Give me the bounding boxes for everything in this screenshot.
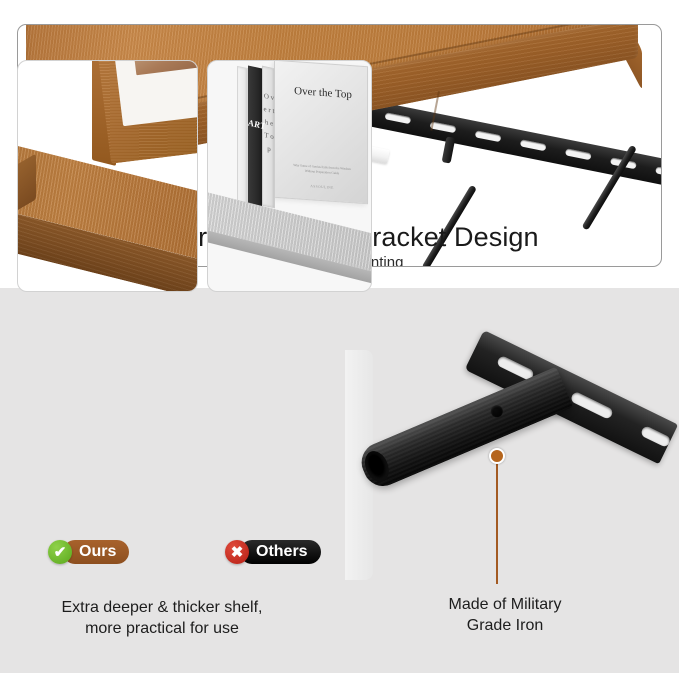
callout-leader-line — [496, 462, 498, 584]
cross-mark-icon: ✖ — [225, 540, 249, 564]
bracket-rod-screw-hole-icon — [489, 403, 505, 419]
book-spine-art — [248, 66, 262, 209]
iron-bracket-illustration — [340, 300, 679, 580]
badge-others: ✖ Others — [225, 540, 321, 564]
ours-illustration — [18, 61, 197, 291]
others-illustration: Over the Top Why Some of Genius Fails fr… — [208, 61, 371, 291]
check-mark-icon: ✔ — [48, 540, 72, 564]
badge-others-label: Others — [240, 540, 321, 564]
badge-ours: ✔ Ours — [48, 540, 129, 564]
callout-dot-icon — [489, 448, 505, 464]
caption-military-grade-iron: Made of Military Grade Iron — [400, 594, 610, 636]
book-cover-over-the-top — [274, 60, 368, 204]
badge-ours-label: Ours — [63, 540, 129, 564]
bracket-plate-slot — [570, 391, 614, 420]
comparison-card-ours — [17, 60, 198, 292]
product-feature-graphic: Smart & Invisible Bracket Design For Eas… — [0, 0, 679, 673]
book-spine-thin — [237, 66, 248, 208]
bracket-tube-rod-icon — [355, 367, 573, 493]
bracket-rod-bore-icon — [361, 448, 394, 486]
caption-ours: Extra deeper & thicker shelf, more pract… — [17, 597, 307, 639]
bracket-plate-slot — [640, 425, 672, 448]
comparison-card-others: Over the Top Why Some of Genius Fails fr… — [207, 60, 372, 292]
